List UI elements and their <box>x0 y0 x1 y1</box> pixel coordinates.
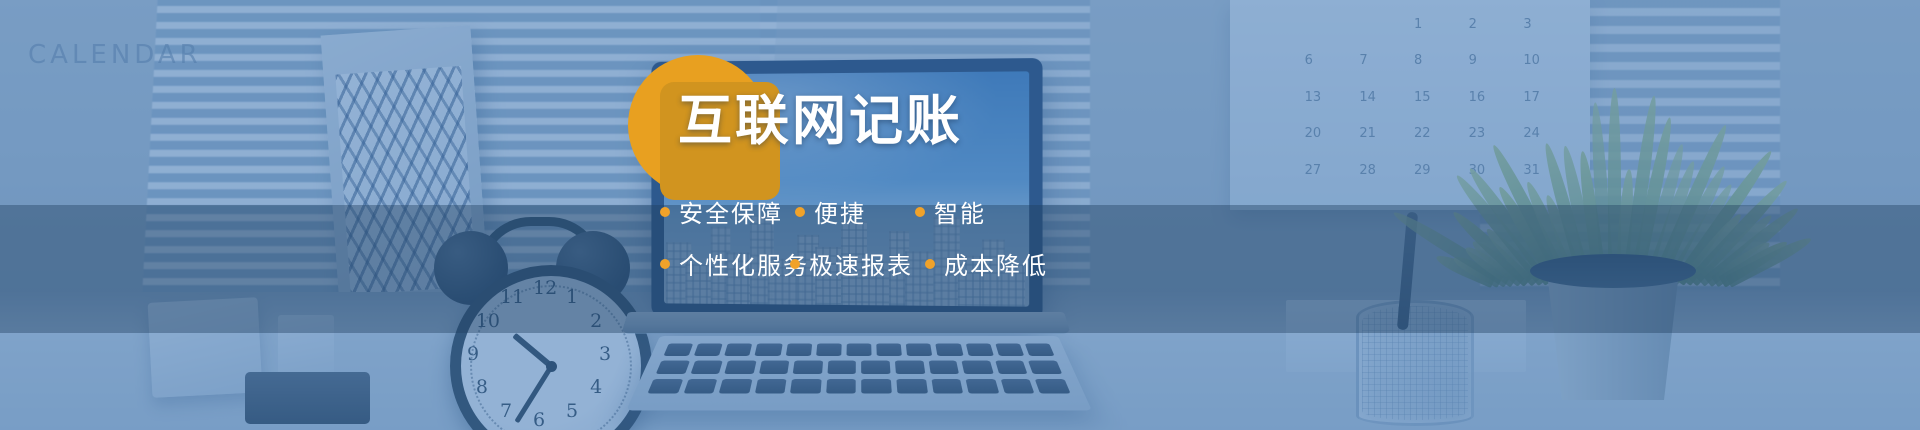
feature-item[interactable]: 极速报表 <box>790 246 913 281</box>
bullet-dot-icon <box>660 259 670 269</box>
bullet-dot-icon <box>925 259 935 269</box>
feature-label: 极速报表 <box>809 246 913 281</box>
feature-label: 便捷 <box>814 194 866 229</box>
feature-label: 安全保障 <box>679 194 783 229</box>
feature-item[interactable]: 便捷 <box>795 194 866 229</box>
feature-item[interactable]: 安全保障 <box>660 194 783 229</box>
bullet-dot-icon <box>660 207 670 217</box>
bullet-dot-icon <box>795 207 805 217</box>
bullet-dot-icon <box>915 207 925 217</box>
feature-item[interactable]: 智能 <box>915 194 986 229</box>
feature-label: 成本降低 <box>944 246 1048 281</box>
banner-title: 互联网记账 <box>678 94 963 148</box>
bullet-dot-icon <box>790 259 800 269</box>
feature-item[interactable]: 成本降低 <box>925 246 1048 281</box>
banner-content: 互联网记账 安全保障便捷智能个性化服务极速报表成本降低 <box>0 0 1920 430</box>
promo-banner: 121234567891011 1236789101 <box>0 0 1920 430</box>
feature-item[interactable]: 个性化服务 <box>660 246 809 281</box>
feature-label: 智能 <box>934 194 986 229</box>
